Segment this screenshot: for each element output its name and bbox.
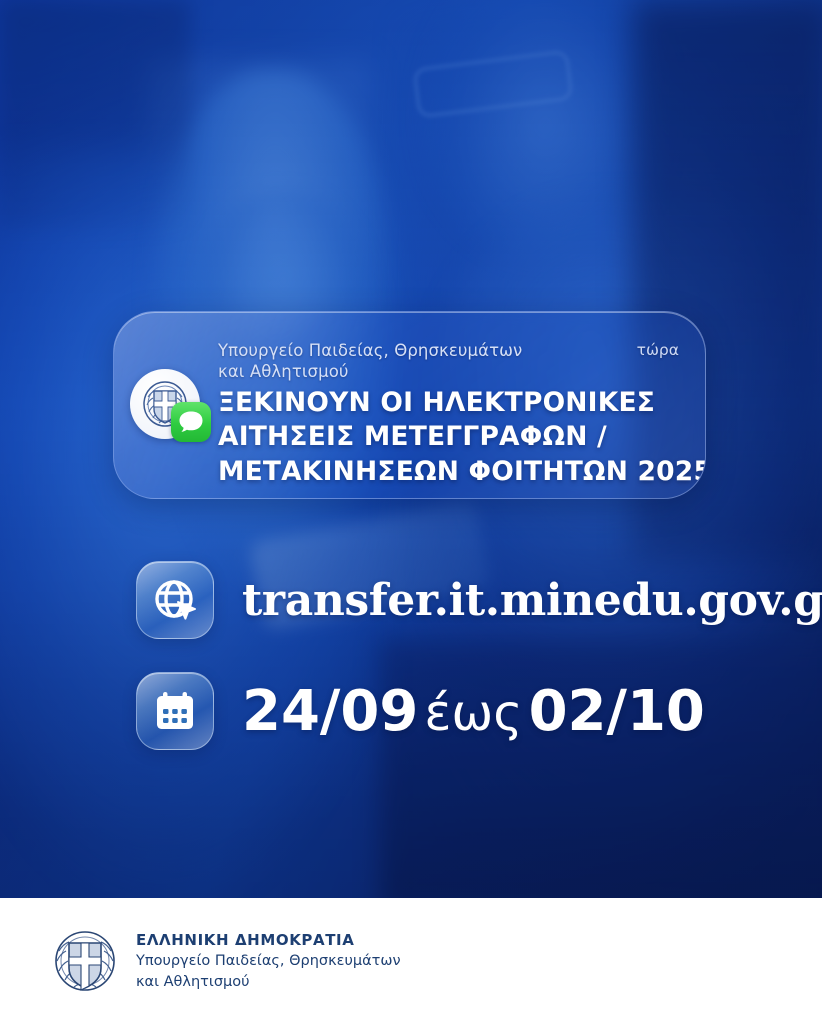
- notification-title-line2: ΑΙΤΗΣΕΙΣ ΜΕΤΕΓΓΡΑΦΩΝ /: [218, 420, 687, 454]
- footer: ΕΛΛΗΝΙΚΗ ΔΗΜΟΚΡΑΤΙΑ Υπουργείο Παιδείας, …: [0, 898, 822, 1024]
- notification-source-line1: Υπουργείο Παιδείας, Θρησκευμάτων: [218, 340, 522, 361]
- date-start: 24/09: [242, 679, 418, 744]
- date-row: 24/09έως02/10: [136, 672, 705, 750]
- footer-text: ΕΛΛΗΝΙΚΗ ΔΗΜΟΚΡΑΤΙΑ Υπουργείο Παιδείας, …: [136, 930, 401, 992]
- calendar-icon: [136, 672, 214, 750]
- footer-line1: ΕΛΛΗΝΙΚΗ ΔΗΜΟΚΡΑΤΙΑ: [136, 930, 401, 951]
- date-range: 24/09έως02/10: [242, 679, 705, 744]
- date-end: 02/10: [529, 679, 705, 744]
- url-row[interactable]: transfer.it.minedu.gov.gr: [136, 561, 822, 639]
- date-separator: έως: [418, 684, 528, 742]
- poster: Υπουργείο Παιδείας, Θρησκευμάτων και Αθλ…: [0, 0, 822, 1024]
- notification-title: ΞΕΚΙΝΟΥΝ ΟΙ ΗΛΕΚΤΡΟΝΙΚΕΣ ΑΙΤΗΣΕΙΣ ΜΕΤΕΓΓ…: [218, 386, 687, 489]
- notification-time: τώρα: [637, 340, 679, 359]
- footer-line3: και Αθλητισμού: [136, 972, 401, 993]
- notification-title-line1: ΞΕΚΙΝΟΥΝ ΟΙ ΗΛΕΚΤΡΟΝΙΚΕΣ: [218, 386, 687, 420]
- globe-cursor-icon: [136, 561, 214, 639]
- notification-header: Υπουργείο Παιδείας, Θρησκευμάτων και Αθλ…: [218, 340, 679, 383]
- notification-source: Υπουργείο Παιδείας, Θρησκευμάτων και Αθλ…: [218, 340, 522, 383]
- notification-title-line3: ΜΕΤΑΚΙΝΗΣΕΩΝ ΦΟΙΤΗΤΩΝ 2025: [218, 455, 687, 489]
- message-bubble-icon: [171, 402, 211, 442]
- url-text[interactable]: transfer.it.minedu.gov.gr: [242, 575, 822, 626]
- footer-inner: ΕΛΛΗΝΙΚΗ ΔΗΜΟΚΡΑΤΙΑ Υπουργείο Παιδείας, …: [52, 928, 401, 994]
- footer-line2: Υπουργείο Παιδείας, Θρησκευμάτων: [136, 951, 401, 972]
- notification-card[interactable]: Υπουργείο Παιδείας, Θρησκευμάτων και Αθλ…: [113, 311, 706, 499]
- notification-source-line2: και Αθλητισμού: [218, 361, 522, 382]
- greek-coat-of-arms-icon: [52, 928, 118, 994]
